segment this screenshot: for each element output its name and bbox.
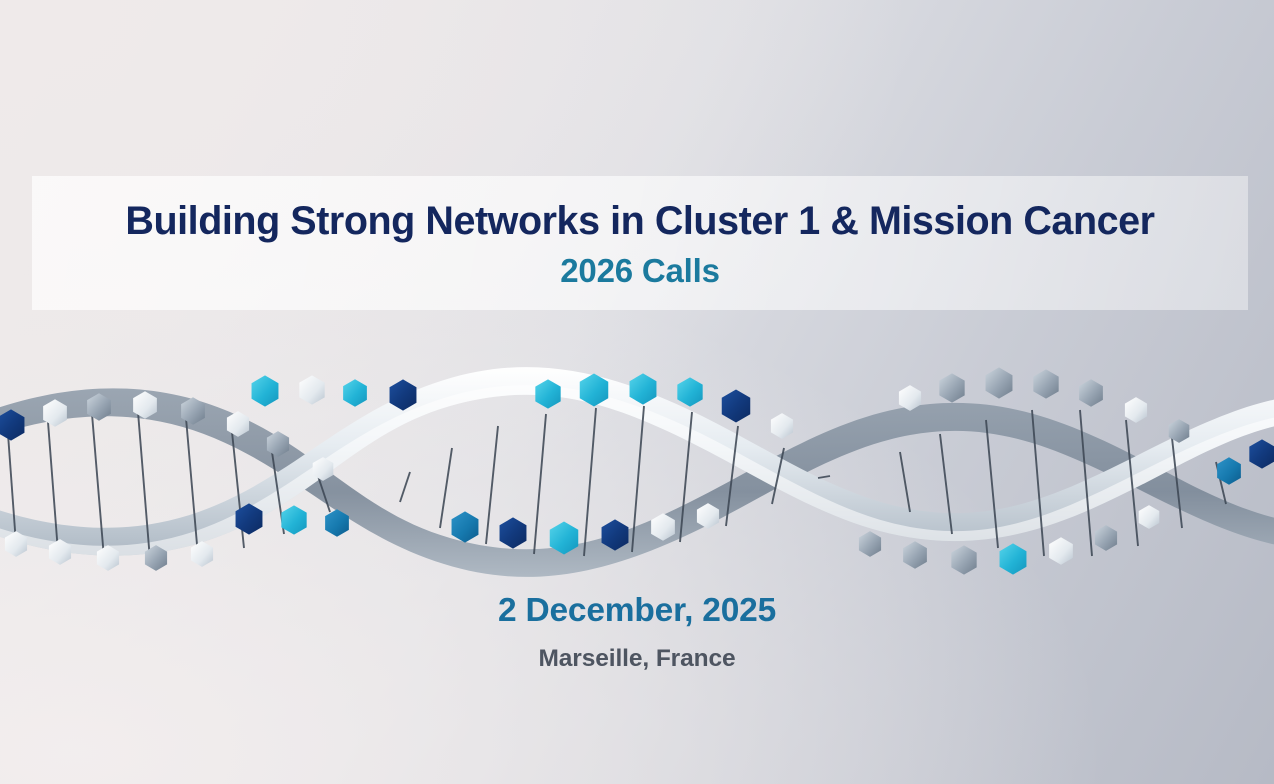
helix-nodes-upper bbox=[0, 367, 1189, 481]
dna-double-helix-illustration bbox=[0, 352, 1274, 592]
event-date: 2 December, 2025 bbox=[498, 592, 776, 630]
helix-ribbon-back bbox=[0, 388, 1274, 577]
helix-nodes-lower bbox=[5, 439, 1274, 574]
helix-ribbon-front bbox=[0, 367, 1274, 556]
page-title: Building Strong Networks in Cluster 1 & … bbox=[125, 201, 1154, 243]
event-details: 2 December, 2025 Marseille, France bbox=[0, 592, 1274, 672]
event-location: Marseille, France bbox=[538, 645, 735, 672]
page-subtitle: 2026 Calls bbox=[560, 254, 719, 289]
helix-rungs bbox=[8, 406, 1226, 560]
title-panel: Building Strong Networks in Cluster 1 & … bbox=[32, 176, 1248, 310]
event-title-slide: Building Strong Networks in Cluster 1 & … bbox=[0, 0, 1274, 784]
